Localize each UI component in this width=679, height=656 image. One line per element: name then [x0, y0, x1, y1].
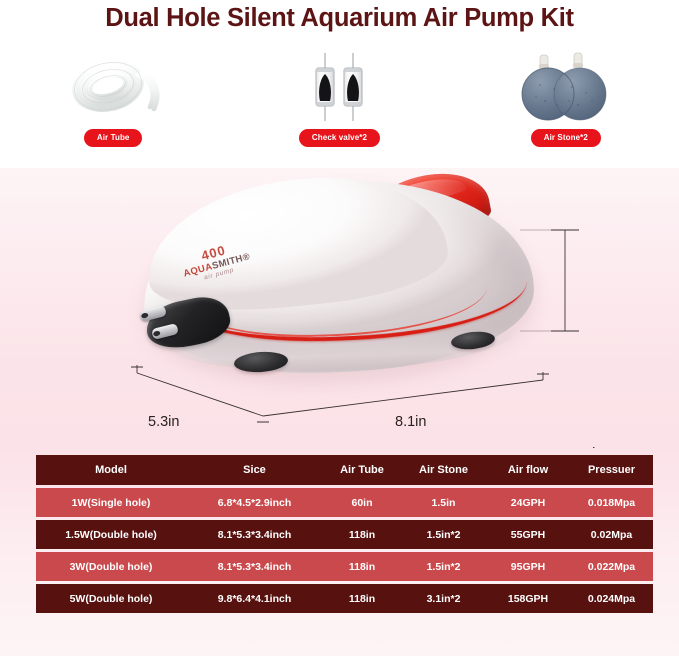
cell-air-tube: 60in: [323, 488, 401, 517]
cell-size: 6.8*4.5*2.9inch: [186, 488, 323, 517]
cell-air-flow: 95GPH: [486, 552, 570, 581]
page-title: Dual Hole Silent Aquarium Air Pump Kit: [0, 4, 679, 33]
accessory-air-tube: Air Tube: [13, 48, 213, 146]
spec-table-section: Model Sice Air Tube Air Stone Air flow P…: [0, 448, 679, 656]
column-header-model: Model: [36, 455, 186, 485]
cell-air-stone: 3.1in*2: [401, 584, 486, 613]
cell-air-stone: 1.5in*2: [401, 552, 486, 581]
check-valve-icon: [299, 48, 379, 126]
spec-table-body: 1W(Single hole) 6.8*4.5*2.9inch 60in 1.5…: [36, 488, 653, 613]
cell-air-flow: 158GPH: [486, 584, 570, 613]
column-header-air-stone: Air Stone: [401, 455, 486, 485]
product-hero-section: 400 AQUASMITH® air pump 3.4in 8.1in 5.3i…: [0, 168, 679, 448]
spec-table-header-row: Model Sice Air Tube Air Stone Air flow P…: [36, 455, 653, 485]
cell-model: 3W(Double hole): [36, 552, 186, 581]
cell-air-stone: 1.5in*2: [401, 520, 486, 549]
cell-air-stone: 1.5in: [401, 488, 486, 517]
cell-pressure: 0.018Mpa: [570, 488, 653, 517]
accessory-air-stone: Air Stone*2: [466, 48, 666, 146]
column-header-air-tube: Air Tube: [323, 455, 401, 485]
spec-table: Model Sice Air Tube Air Stone Air flow P…: [36, 452, 653, 616]
product-infographic: Dual Hole Silent Aquarium Air Pump Kit: [0, 0, 679, 656]
cell-pressure: 0.022Mpa: [570, 552, 653, 581]
coiled-tube-icon: [58, 48, 168, 126]
cell-air-tube: 118in: [323, 584, 401, 613]
header-section: Dual Hole Silent Aquarium Air Pump Kit: [0, 0, 679, 168]
column-header-size: Sice: [186, 455, 323, 485]
dimension-width-label: 8.1in: [395, 414, 426, 430]
accessory-label-air-tube: Air Tube: [85, 130, 142, 146]
cell-air-tube: 118in: [323, 552, 401, 581]
cell-air-flow: 55GPH: [486, 520, 570, 549]
cell-model: 1W(Single hole): [36, 488, 186, 517]
cell-pressure: 0.024Mpa: [570, 584, 653, 613]
accessories-row: Air Tube: [0, 48, 679, 160]
cell-size: 9.8*6.4*4.1inch: [186, 584, 323, 613]
table-row: 3W(Double hole) 8.1*5.3*3.4inch 118in 1.…: [36, 552, 653, 581]
table-row: 1W(Single hole) 6.8*4.5*2.9inch 60in 1.5…: [36, 488, 653, 517]
air-stone-disc-icon: [512, 48, 620, 126]
cell-air-flow: 24GPH: [486, 488, 570, 517]
cell-size: 8.1*5.3*3.4inch: [186, 552, 323, 581]
spec-table-head: Model Sice Air Tube Air Stone Air flow P…: [36, 455, 653, 485]
table-row: 1.5W(Double hole) 8.1*5.3*3.4inch 118in …: [36, 520, 653, 549]
accessory-label-air-stone: Air Stone*2: [532, 130, 600, 146]
air-pump-illustration: 400 AQUASMITH® air pump: [128, 176, 548, 392]
cell-air-tube: 118in: [323, 520, 401, 549]
accessory-label-check-valve: Check valve*2: [300, 130, 379, 146]
cell-model: 1.5W(Double hole): [36, 520, 186, 549]
cell-pressure: 0.02Mpa: [570, 520, 653, 549]
accessory-check-valve: Check valve*2: [239, 48, 439, 146]
cell-size: 8.1*5.3*3.4inch: [186, 520, 323, 549]
column-header-pressure: Pressuer: [570, 455, 653, 485]
column-header-air-flow: Air flow: [486, 455, 570, 485]
table-row: 5W(Double hole) 9.8*6.4*4.1inch 118in 3.…: [36, 584, 653, 613]
cell-model: 5W(Double hole): [36, 584, 186, 613]
dimension-depth-label: 5.3in: [148, 414, 179, 430]
